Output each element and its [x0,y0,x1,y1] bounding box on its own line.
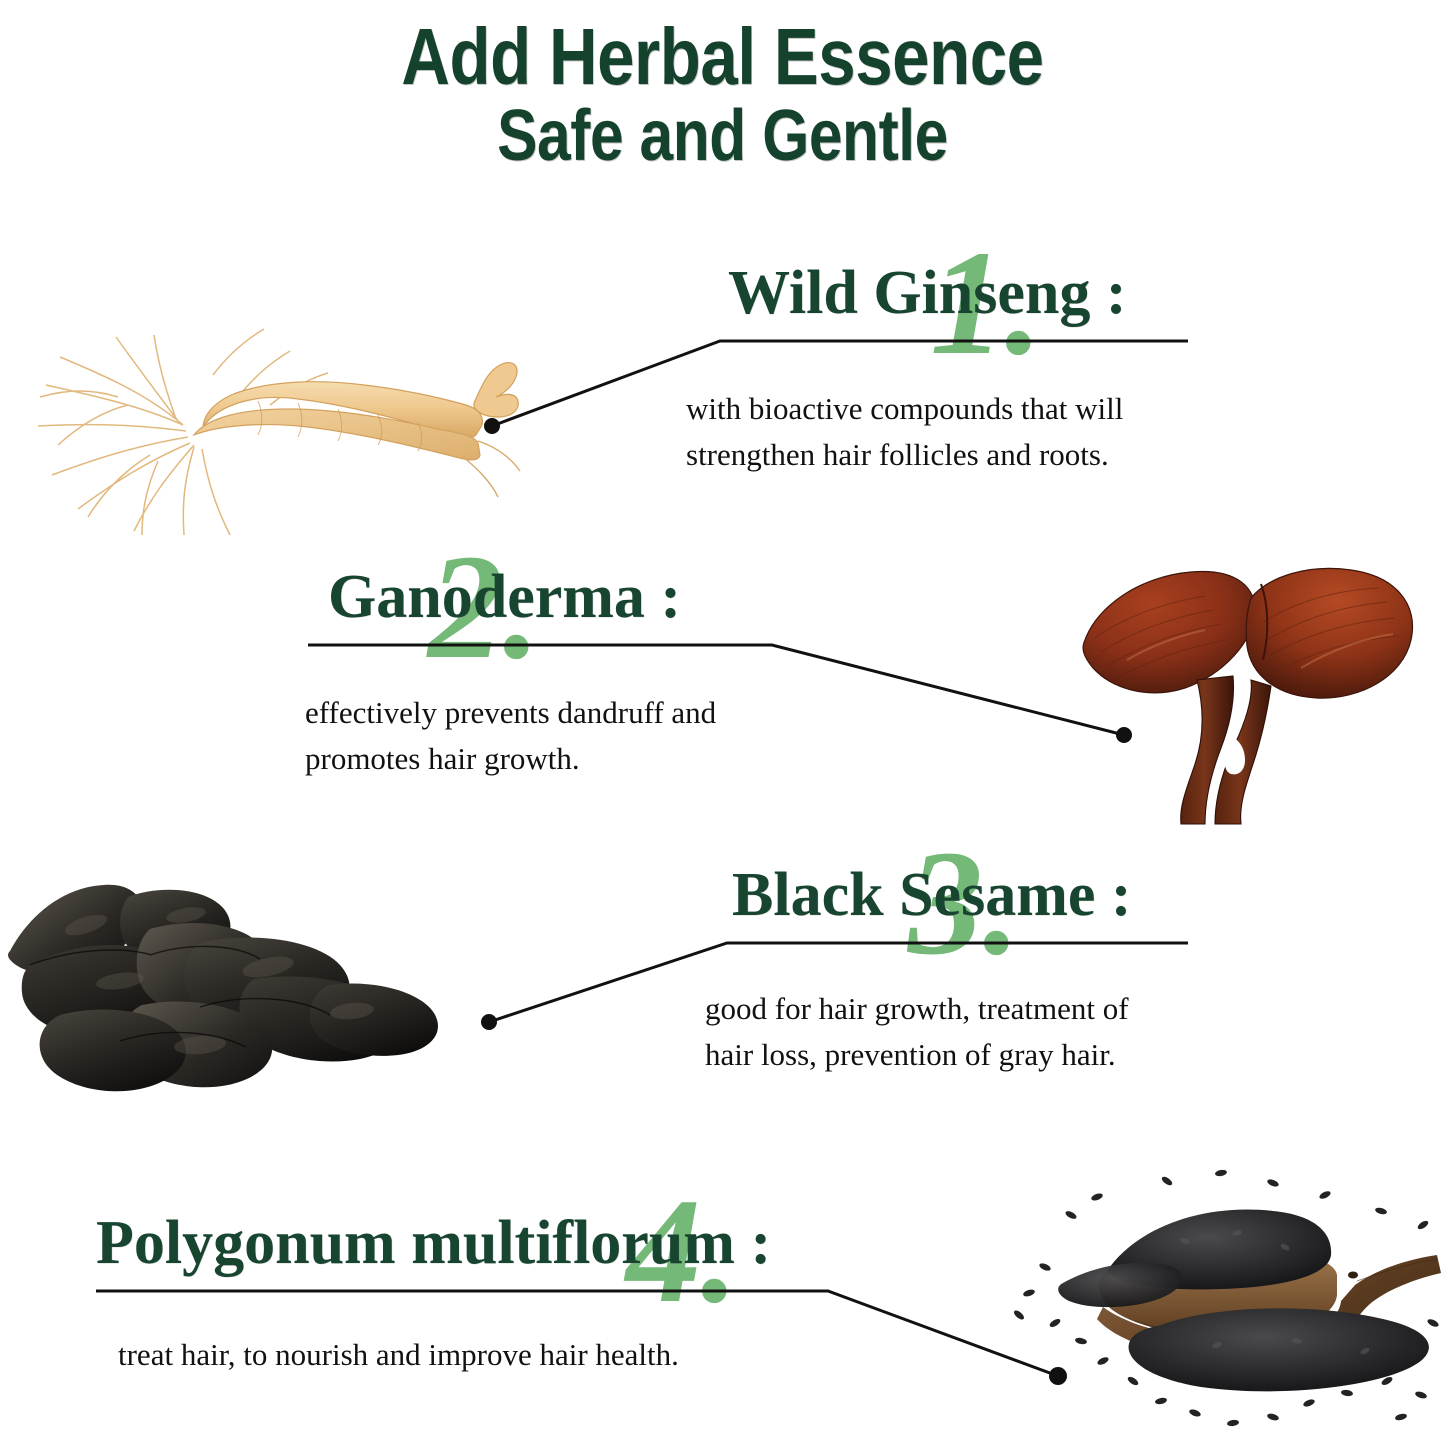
ganoderma-illustration [1055,548,1435,838]
page-title: Add Herbal Essence Safe and Gentle [0,14,1445,176]
title-line-1: Add Herbal Essence [116,14,1330,100]
section-description-3: good for hair growth, treatment of hair … [705,986,1245,1078]
section-description-4: treat hair, to nourish and improve hair … [118,1332,878,1378]
section-heading-4: Polygonum multiflorum : [96,1212,771,1274]
section-description-2: effectively prevents dandruff and promot… [305,690,865,782]
wild-ginseng-illustration [8,285,528,540]
wild-ginseng-image [8,285,528,540]
section-heading-2: Ganoderma : [328,566,681,628]
ganoderma-image [1055,548,1435,838]
dried-dark-slices-illustration [0,855,470,1105]
infographic-canvas: Add Herbal Essence Safe and Gentle [0,0,1445,1445]
dried-dark-slices-image [0,855,470,1105]
section-heading-3: Black Sesame : [732,864,1132,926]
black-sesame-seeds-image [985,1155,1445,1445]
section-heading-1: Wild Ginseng : [728,262,1127,324]
title-line-2: Safe and Gentle [116,96,1330,176]
black-sesame-seeds-illustration [985,1155,1445,1445]
connector-dot-3 [481,1014,497,1030]
section-description-1: with bioactive compounds that will stren… [686,386,1226,478]
